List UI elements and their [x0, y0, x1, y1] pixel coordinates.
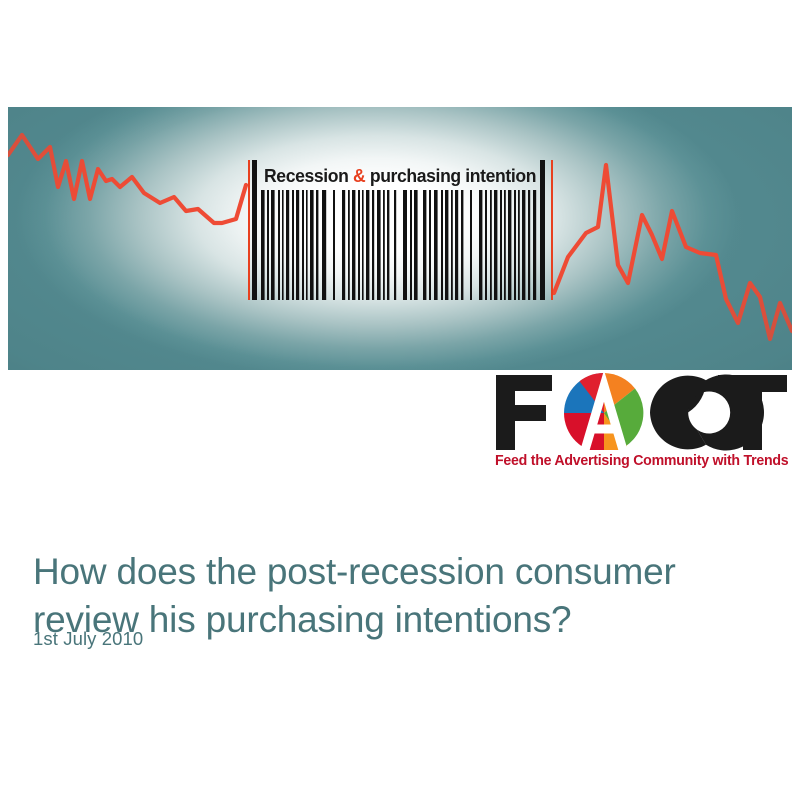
hero-banner-image: Recession & purchasing intention: [8, 107, 792, 370]
fact-logo: Feed the Advertising Community with Tren…: [494, 372, 792, 480]
logo-letter-a-wheel: [562, 373, 646, 452]
barcode-stripes: [248, 190, 553, 300]
barcode-graphic: Recession & purchasing intention: [248, 160, 553, 300]
trend-line-right: [554, 165, 792, 339]
barcode-title-main: Recession: [264, 165, 349, 186]
barcode-title-ampersand: &: [353, 165, 365, 186]
logo-letter-f: [496, 375, 552, 450]
barcode-title-row: Recession & purchasing intention: [248, 160, 553, 192]
page-date: 1st July 2010: [33, 628, 143, 650]
barcode-bars: [248, 190, 553, 300]
page-title-line-1: How does the post-recession consumer: [33, 551, 676, 592]
fact-logo-mark: [494, 372, 792, 452]
logo-tagline: Feed the Advertising Community with Tren…: [495, 454, 790, 468]
trend-line-left: [8, 135, 246, 223]
barcode-title-rest: purchasing intention: [370, 165, 536, 186]
barcode-title: Recession & purchasing intention: [264, 167, 536, 186]
